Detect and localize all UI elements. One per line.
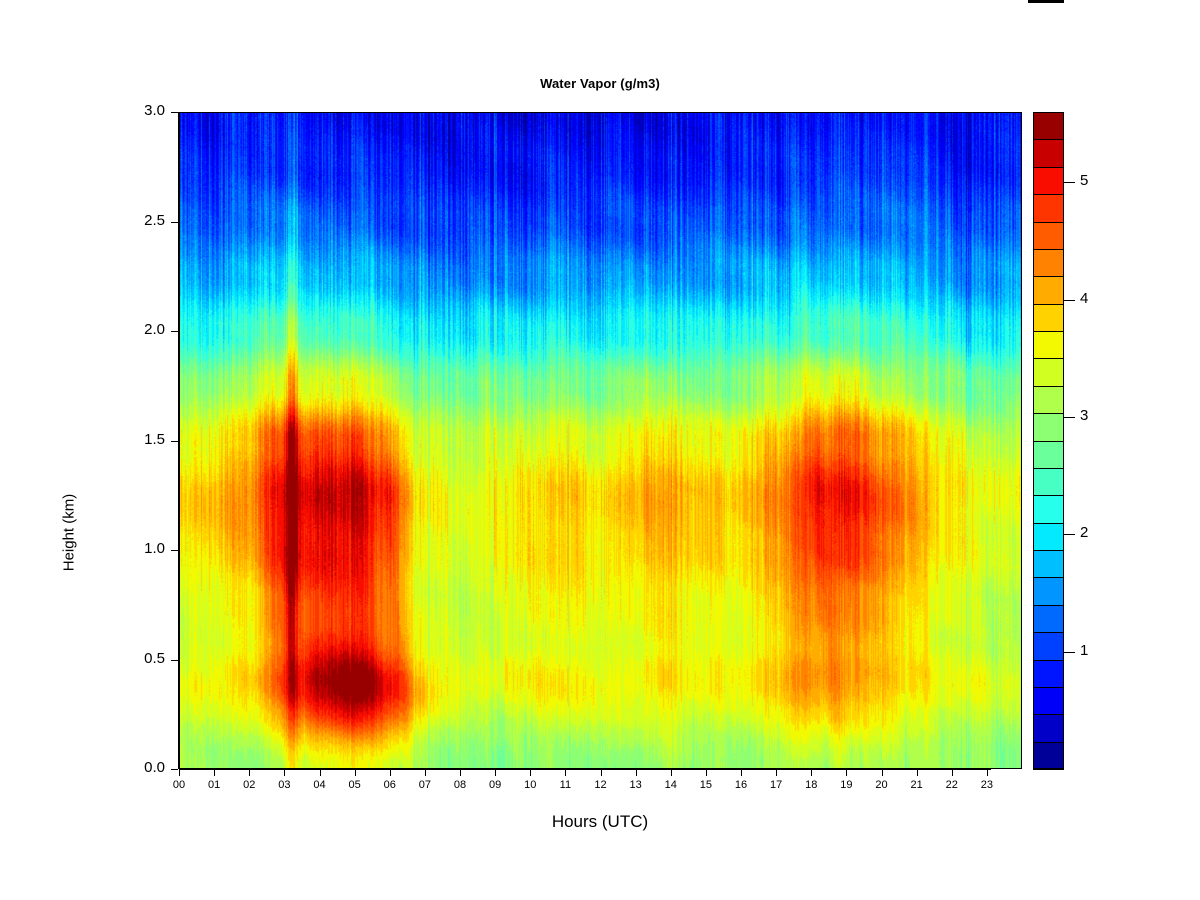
x-tick-17	[776, 769, 777, 776]
x-tick-07	[425, 769, 426, 776]
x-tick-02	[249, 769, 250, 776]
x-tick-21	[917, 769, 918, 776]
y-tick-label-3.0: 3.0	[113, 102, 165, 119]
x-tick-label-04: 04	[300, 779, 340, 791]
x-tick-label-22: 22	[932, 779, 972, 791]
x-tick-12	[601, 769, 602, 776]
y-tick-label-0.5: 0.5	[113, 650, 165, 667]
x-tick-label-09: 09	[475, 779, 515, 791]
colorbar-tick-2	[1064, 534, 1075, 535]
x-tick-10	[530, 769, 531, 776]
colorbar-tick-label-2: 2	[1080, 524, 1088, 541]
colorbar-swatch-10	[1033, 468, 1064, 496]
y-tick-label-2.0: 2.0	[113, 321, 165, 338]
x-tick-08	[460, 769, 461, 776]
y-axis-label: Height (km)	[61, 453, 78, 613]
x-tick-label-06: 06	[370, 779, 410, 791]
x-tick-04	[320, 769, 321, 776]
x-tick-label-17: 17	[756, 779, 796, 791]
x-tick-20	[882, 769, 883, 776]
x-tick-16	[741, 769, 742, 776]
y-tick-2.0	[171, 331, 178, 332]
x-tick-19	[846, 769, 847, 776]
x-tick-label-03: 03	[264, 779, 304, 791]
x-tick-label-16: 16	[721, 779, 761, 791]
x-tick-label-13: 13	[616, 779, 656, 791]
y-tick-0.5	[171, 660, 178, 661]
x-axis-line	[179, 769, 991, 770]
x-tick-label-20: 20	[862, 779, 902, 791]
heatmap-canvas	[179, 112, 1022, 769]
figure-canvas: Water Vapor (g/m3) 000102030405060708091…	[0, 0, 1200, 900]
y-axis-line	[178, 112, 179, 769]
colorbar-swatch-9	[1033, 495, 1064, 523]
colorbar-swatch-16	[1033, 304, 1064, 332]
y-tick-label-0.0: 0.0	[113, 759, 165, 776]
x-tick-label-00: 00	[159, 779, 199, 791]
colorbar-swatch-7	[1033, 550, 1064, 578]
x-tick-label-21: 21	[897, 779, 937, 791]
y-tick-label-1.5: 1.5	[113, 431, 165, 448]
colorbar-swatch-23	[1033, 112, 1064, 140]
colorbar-tick-3	[1064, 417, 1075, 418]
colorbar-swatch-14	[1033, 358, 1064, 386]
colorbar-swatch-4	[1033, 632, 1064, 660]
colorbar-tick-5	[1064, 182, 1075, 183]
colorbar-swatch-1	[1033, 714, 1064, 742]
colorbar-swatch-5	[1033, 605, 1064, 633]
x-tick-label-05: 05	[335, 779, 375, 791]
x-tick-label-15: 15	[686, 779, 726, 791]
colorbar-swatch-11	[1033, 441, 1064, 469]
x-tick-22	[952, 769, 953, 776]
x-tick-label-11: 11	[545, 779, 585, 791]
colorbar-swatch-20	[1033, 194, 1064, 222]
y-tick-0.0	[171, 769, 178, 770]
colorbar-swatch-2	[1033, 687, 1064, 715]
colorbar-swatch-18	[1033, 249, 1064, 277]
x-tick-label-08: 08	[440, 779, 480, 791]
x-tick-18	[811, 769, 812, 776]
x-tick-03	[284, 769, 285, 776]
y-tick-label-2.5: 2.5	[113, 212, 165, 229]
y-tick-2.5	[171, 222, 178, 223]
colorbar-swatch-15	[1033, 331, 1064, 359]
x-tick-11	[565, 769, 566, 776]
x-tick-00	[179, 769, 180, 776]
x-tick-01	[214, 769, 215, 776]
colorbar-swatch-3	[1033, 660, 1064, 688]
x-tick-14	[671, 769, 672, 776]
y-tick-1.5	[171, 441, 178, 442]
heatmap-plot-area	[179, 112, 1022, 769]
x-tick-15	[706, 769, 707, 776]
x-tick-23	[987, 769, 988, 776]
colorbar-swatch-19	[1033, 222, 1064, 250]
colorbar-tick-label-5: 5	[1080, 172, 1088, 189]
colorbar-swatch-17	[1033, 276, 1064, 304]
x-tick-label-02: 02	[229, 779, 269, 791]
x-tick-label-10: 10	[510, 779, 550, 791]
x-tick-label-14: 14	[651, 779, 691, 791]
colorbar-swatch-21	[1033, 167, 1064, 195]
x-tick-label-07: 07	[405, 779, 445, 791]
x-tick-06	[390, 769, 391, 776]
colorbar	[1033, 112, 1064, 769]
colorbar-swatch-22	[1033, 139, 1064, 167]
colorbar-swatch-6	[1033, 577, 1064, 605]
x-tick-label-01: 01	[194, 779, 234, 791]
x-tick-13	[636, 769, 637, 776]
y-tick-3.0	[171, 112, 178, 113]
plot-title: Water Vapor (g/m3)	[0, 76, 1200, 91]
colorbar-tick-label-1: 1	[1080, 642, 1088, 659]
y-tick-label-1.0: 1.0	[113, 540, 165, 557]
x-tick-label-12: 12	[581, 779, 621, 791]
x-tick-label-18: 18	[791, 779, 831, 791]
y-tick-1.0	[171, 550, 178, 551]
colorbar-swatch-13	[1033, 386, 1064, 414]
x-tick-05	[355, 769, 356, 776]
colorbar-tick-label-3: 3	[1080, 407, 1088, 424]
x-tick-label-19: 19	[826, 779, 866, 791]
x-tick-09	[495, 769, 496, 776]
colorbar-swatch-8	[1033, 523, 1064, 551]
colorbar-tick-4	[1064, 300, 1075, 301]
x-axis-label: Hours (UTC)	[0, 812, 1200, 832]
colorbar-swatch-0	[1033, 742, 1064, 770]
top-edge-artifact	[1028, 0, 1064, 3]
colorbar-swatch-12	[1033, 413, 1064, 441]
x-tick-label-23: 23	[967, 779, 1007, 791]
colorbar-tick-1	[1064, 652, 1075, 653]
colorbar-tick-label-4: 4	[1080, 290, 1088, 307]
